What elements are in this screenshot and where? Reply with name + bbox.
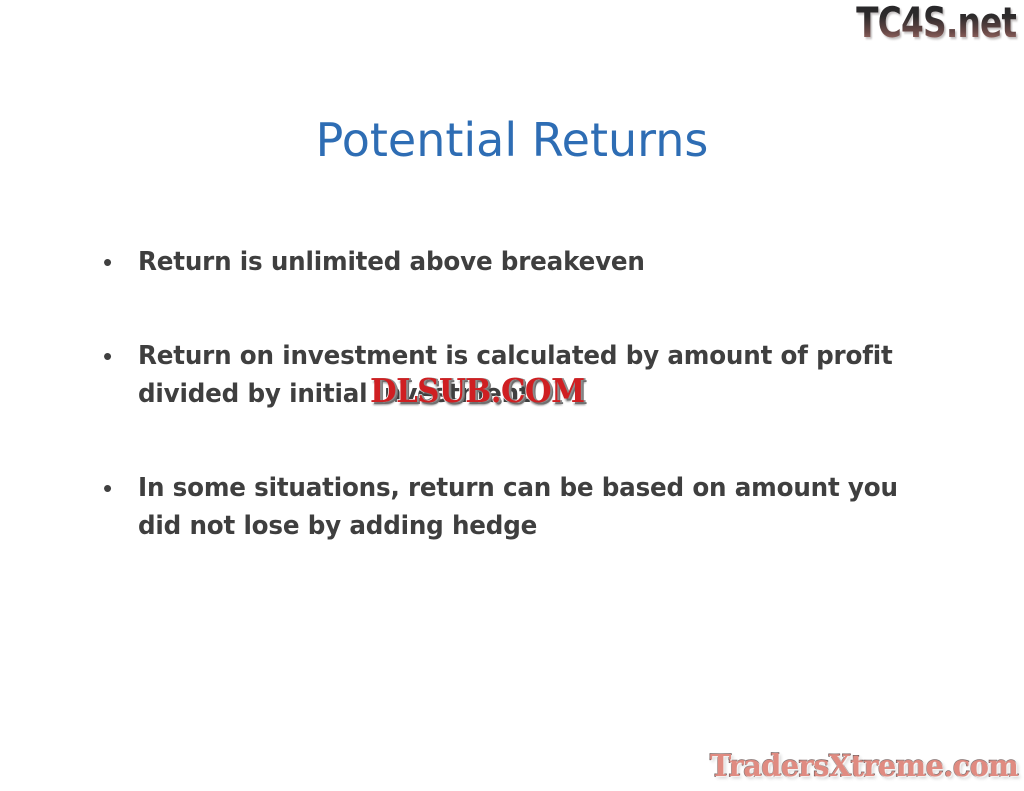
- tradersxtreme-watermark: TradersXtreme.com: [710, 751, 1018, 783]
- bullet-text: Return is unlimited above breakeven: [138, 243, 910, 281]
- dlsub-watermark: DLSUB.COM: [370, 373, 585, 409]
- page-title: Potential Returns: [0, 114, 1024, 167]
- bullet-text: In some situations, return can be based …: [138, 469, 910, 545]
- list-item: • Return is unlimited above breakeven: [98, 243, 938, 281]
- tc4s-watermark: TC4S.net: [856, 2, 1016, 44]
- bullet-dot-icon: •: [98, 469, 138, 507]
- bullet-dot-icon: •: [98, 243, 138, 281]
- list-item: • In some situations, return can be base…: [98, 469, 938, 545]
- slide-canvas: TC4S.net Potential Returns • Return is u…: [0, 0, 1024, 791]
- bullet-dot-icon: •: [98, 337, 138, 375]
